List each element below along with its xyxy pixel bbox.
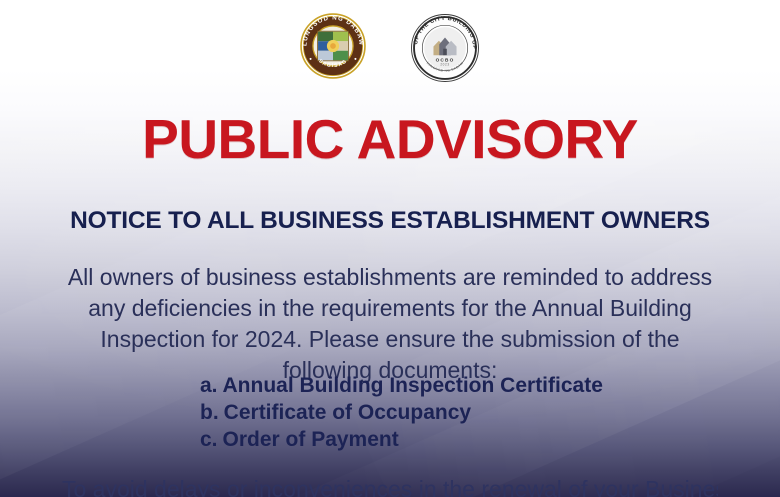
page-subtitle: NOTICE TO ALL BUSINESS ESTABLISHMENT OWN… [0,208,780,235]
list-item: b.Certificate of Occupancy [200,399,603,426]
list-item-label: Annual Building Inspection Certificate [223,374,603,397]
list-item-label: Certificate of Occupancy [224,401,471,424]
davao-city-seal-icon: LUNGSOD NG DABAW SAGISAG [299,12,367,85]
list-item-marker: c. [200,428,218,451]
required-documents-list: a.Annual Building Inspection Certificate… [200,372,603,453]
list-item-marker: a. [200,374,218,397]
svg-text:2023: 2023 [440,63,449,67]
list-item-marker: b. [200,401,219,424]
city-building-official-seal-icon: OCBO 2023 OFFICE OF THE CITY BUILDING OF… [409,12,481,89]
public-advisory-poster: LUNGSOD NG DABAW SAGISAG [0,0,780,497]
seal-row: LUNGSOD NG DABAW SAGISAG [0,12,780,89]
list-item-label: Order of Payment [223,428,399,451]
list-item: a.Annual Building Inspection Certificate [200,372,603,399]
page-title: PUBLIC ADVISORY [0,112,780,167]
advisory-body-paragraph: All owners of business establishments ar… [62,262,718,386]
advisory-closing-line: To avoid delays or inconveniences in the… [62,474,718,497]
list-item: c.Order of Payment [200,426,603,453]
